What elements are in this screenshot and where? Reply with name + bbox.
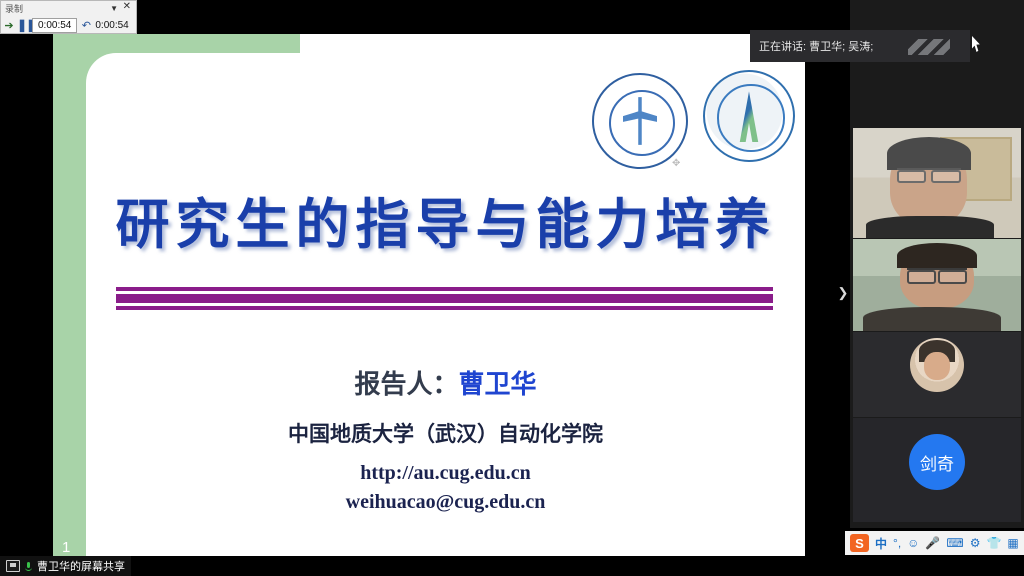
undo-icon[interactable]: ↶	[77, 19, 95, 32]
recording-elapsed-time: 0:00:54	[32, 18, 77, 33]
caret-down-icon[interactable]: ▼	[110, 4, 118, 13]
speaker-name: 曹卫华	[459, 369, 537, 399]
title-divider	[116, 287, 773, 310]
slide-email: weihuacao@cug.edu.cn	[86, 491, 805, 514]
participant-tile[interactable]: 剑奇	[853, 418, 1021, 522]
cug-seal-icon	[592, 73, 688, 169]
apps-icon[interactable]: ▦	[1007, 537, 1018, 549]
sogou-logo-icon[interactable]: S	[850, 534, 869, 552]
voice-input-icon[interactable]: 🎤	[925, 537, 940, 549]
presentation-slide: ✥ 研究生的指导与能力培养 报告人：曹卫华 中国地质大学（武汉）自动化学院 ht…	[0, 34, 805, 576]
speaking-indicator: 正在讲话: 曹卫华; 吴涛;	[750, 30, 970, 62]
tools-icon[interactable]: ⚙	[970, 537, 981, 549]
participant-video-feed	[853, 128, 1021, 238]
slide-affiliation: 中国地质大学（武汉）自动化学院	[86, 418, 805, 448]
emoji-icon[interactable]: ☺	[907, 537, 919, 549]
decorative-mark-icon: ✥	[672, 158, 680, 169]
cug-geosciences-seal-icon	[703, 70, 795, 162]
taskbar-label: 曹卫华的屏幕共享	[37, 558, 125, 574]
punctuation-icon[interactable]: °,	[893, 537, 901, 549]
participant-tile[interactable]	[853, 332, 1021, 417]
ime-toolbar[interactable]: S 中 °, ☺ 🎤 ⌨ ⚙ 👕 ▦	[845, 531, 1024, 555]
participant-video-feed	[853, 239, 1021, 331]
ime-chinese-icon[interactable]: 中	[875, 535, 887, 552]
screen: ✥ 研究生的指导与能力培养 报告人：曹卫华 中国地质大学（武汉）自动化学院 ht…	[0, 0, 1024, 576]
avatar	[910, 338, 964, 392]
brand-watermark-icon	[908, 39, 950, 55]
soft-keyboard-icon[interactable]: ⌨	[946, 537, 963, 549]
skin-icon[interactable]: 👕	[986, 537, 1001, 549]
participant-tile[interactable]	[853, 128, 1021, 238]
participant-initials-avatar: 剑奇	[909, 434, 965, 490]
recording-total-time: 0:00:54	[95, 20, 128, 31]
pause-icon[interactable]: ❚❚	[17, 18, 31, 32]
speaking-indicator-text: 正在讲话: 曹卫华; 吴涛;	[750, 38, 873, 54]
recording-toolbar[interactable]: 录制 ▼ ✕ ➔ ❚❚ 0:00:54 ↶ 0:00:54	[0, 0, 137, 34]
recording-toolbar-title: 录制	[5, 2, 23, 15]
speaker-label: 报告人：	[354, 369, 458, 399]
slide-title: 研究生的指导与能力培养	[86, 180, 805, 259]
mic-active-icon	[24, 562, 33, 571]
close-icon[interactable]: ✕	[123, 1, 131, 12]
arrow-right-icon[interactable]: ➔	[1, 19, 17, 32]
video-participant-rail: 佘德华 陈鑫 曹卫华 剑奇 王燃林-录屏	[850, 0, 1024, 528]
slide-website-url: http://au.cug.edu.cn	[86, 462, 805, 485]
taskbar: 曹卫华的屏幕共享	[0, 556, 1024, 576]
slide-speaker-line: 报告人：曹卫华	[86, 364, 805, 401]
chevron-right-icon[interactable]: ❯	[836, 280, 850, 306]
taskbar-screen-share-item[interactable]: 曹卫华的屏幕共享	[0, 556, 131, 576]
slide-left-black-margin	[0, 34, 53, 576]
participant-tile[interactable]	[853, 239, 1021, 331]
screen-share-icon	[6, 560, 20, 572]
slide-page-number: 1	[62, 539, 70, 556]
